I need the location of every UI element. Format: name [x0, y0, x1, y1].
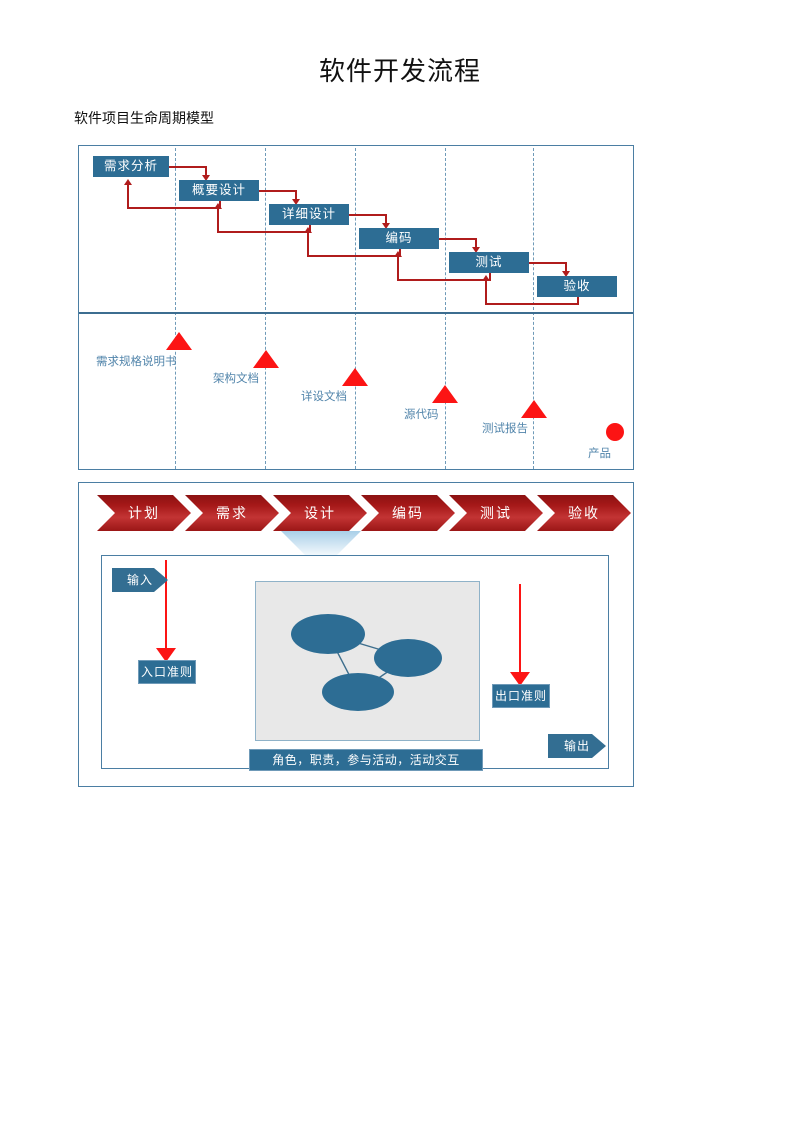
gridline	[175, 148, 176, 469]
phase-chevron-acceptance[interactable]: 验收	[537, 495, 631, 531]
stage-box-acceptance[interactable]: 验收	[537, 276, 617, 297]
feedback-connector	[217, 208, 219, 232]
network-node-bottom	[322, 673, 394, 711]
gridline	[533, 148, 534, 469]
phase-chevron-plan[interactable]: 计划	[97, 495, 191, 531]
network-svg	[256, 582, 479, 740]
feedback-connector	[307, 232, 309, 256]
feedback-arrow-icon	[394, 251, 402, 257]
feedback-connector	[127, 184, 129, 208]
feedback-arrow-icon	[214, 203, 222, 209]
section-divider	[79, 312, 633, 314]
deliverable-marker-triangle	[521, 400, 547, 418]
output-tag[interactable]: 输出	[548, 734, 606, 758]
stage-box-coding[interactable]: 编码	[359, 228, 439, 249]
forward-connector	[439, 238, 477, 240]
feedback-connector	[485, 303, 579, 305]
feedback-arrow-icon	[304, 227, 312, 233]
forward-connector	[169, 166, 207, 168]
feedback-arrow-icon	[124, 179, 132, 185]
network-node-top-left	[291, 614, 365, 654]
feedback-connector	[307, 255, 401, 257]
feedback-connector	[397, 279, 491, 281]
stage-box-requirements[interactable]: 需求分析	[93, 156, 169, 177]
phase-chevron-requirements[interactable]: 需求	[185, 495, 279, 531]
stage-box-detailed-design[interactable]: 详细设计	[269, 204, 349, 225]
page-subtitle: 软件项目生命周期模型	[74, 110, 214, 130]
funnel-shape	[79, 529, 635, 599]
gridline	[355, 148, 356, 469]
forward-connector	[529, 262, 567, 264]
entry-criteria-connector	[165, 560, 167, 652]
gridline	[445, 148, 446, 469]
network-node-right	[374, 639, 442, 677]
stage-box-testing[interactable]: 测试	[449, 252, 529, 273]
waterfall-diagram-panel: 需求分析 概要设计 详细设计 编码 测试 验收	[78, 145, 634, 470]
phase-chevron-testing[interactable]: 测试	[449, 495, 543, 531]
forward-connector	[349, 214, 387, 216]
deliverable-label-test-report: 测试报告	[482, 422, 528, 437]
deliverable-label-product: 产品	[588, 447, 611, 462]
feedback-connector	[485, 280, 487, 304]
phase-chevron-design[interactable]: 设计	[273, 495, 367, 531]
page-title: 软件开发流程	[0, 56, 800, 88]
deliverable-marker-triangle	[432, 385, 458, 403]
feedback-arrow-icon	[482, 275, 490, 281]
feedback-connector	[127, 207, 221, 209]
deliverable-label-architecture-doc: 架构文档	[213, 372, 259, 387]
feedback-connector	[397, 256, 399, 280]
activity-network-diagram	[255, 581, 480, 741]
deliverable-label-detailed-design-doc: 详设文档	[301, 390, 347, 405]
feedback-connector	[217, 231, 311, 233]
phase-chevron-coding[interactable]: 编码	[361, 495, 455, 531]
deliverable-marker-circle	[606, 423, 624, 441]
forward-connector	[259, 190, 297, 192]
entry-criteria-tag[interactable]: 入口准则	[138, 660, 196, 684]
stage-box-high-level-design[interactable]: 概要设计	[179, 180, 259, 201]
exit-criteria-tag[interactable]: 出口准则	[492, 684, 550, 708]
gridline	[265, 148, 266, 469]
phase-detail-panel: 计划 需求 设计 编码 测试 验收 输入 入口准则 角色，职责，参与活动，活动交…	[78, 482, 634, 787]
exit-criteria-connector	[519, 584, 521, 676]
deliverable-marker-triangle	[166, 332, 192, 350]
deliverable-marker-triangle	[342, 368, 368, 386]
deliverable-label-source-code: 源代码	[404, 408, 439, 423]
activity-caption-bar: 角色，职责，参与活动，活动交互	[249, 749, 483, 771]
deliverable-label-requirements-spec: 需求规格说明书	[96, 355, 177, 370]
deliverable-marker-triangle	[253, 350, 279, 368]
